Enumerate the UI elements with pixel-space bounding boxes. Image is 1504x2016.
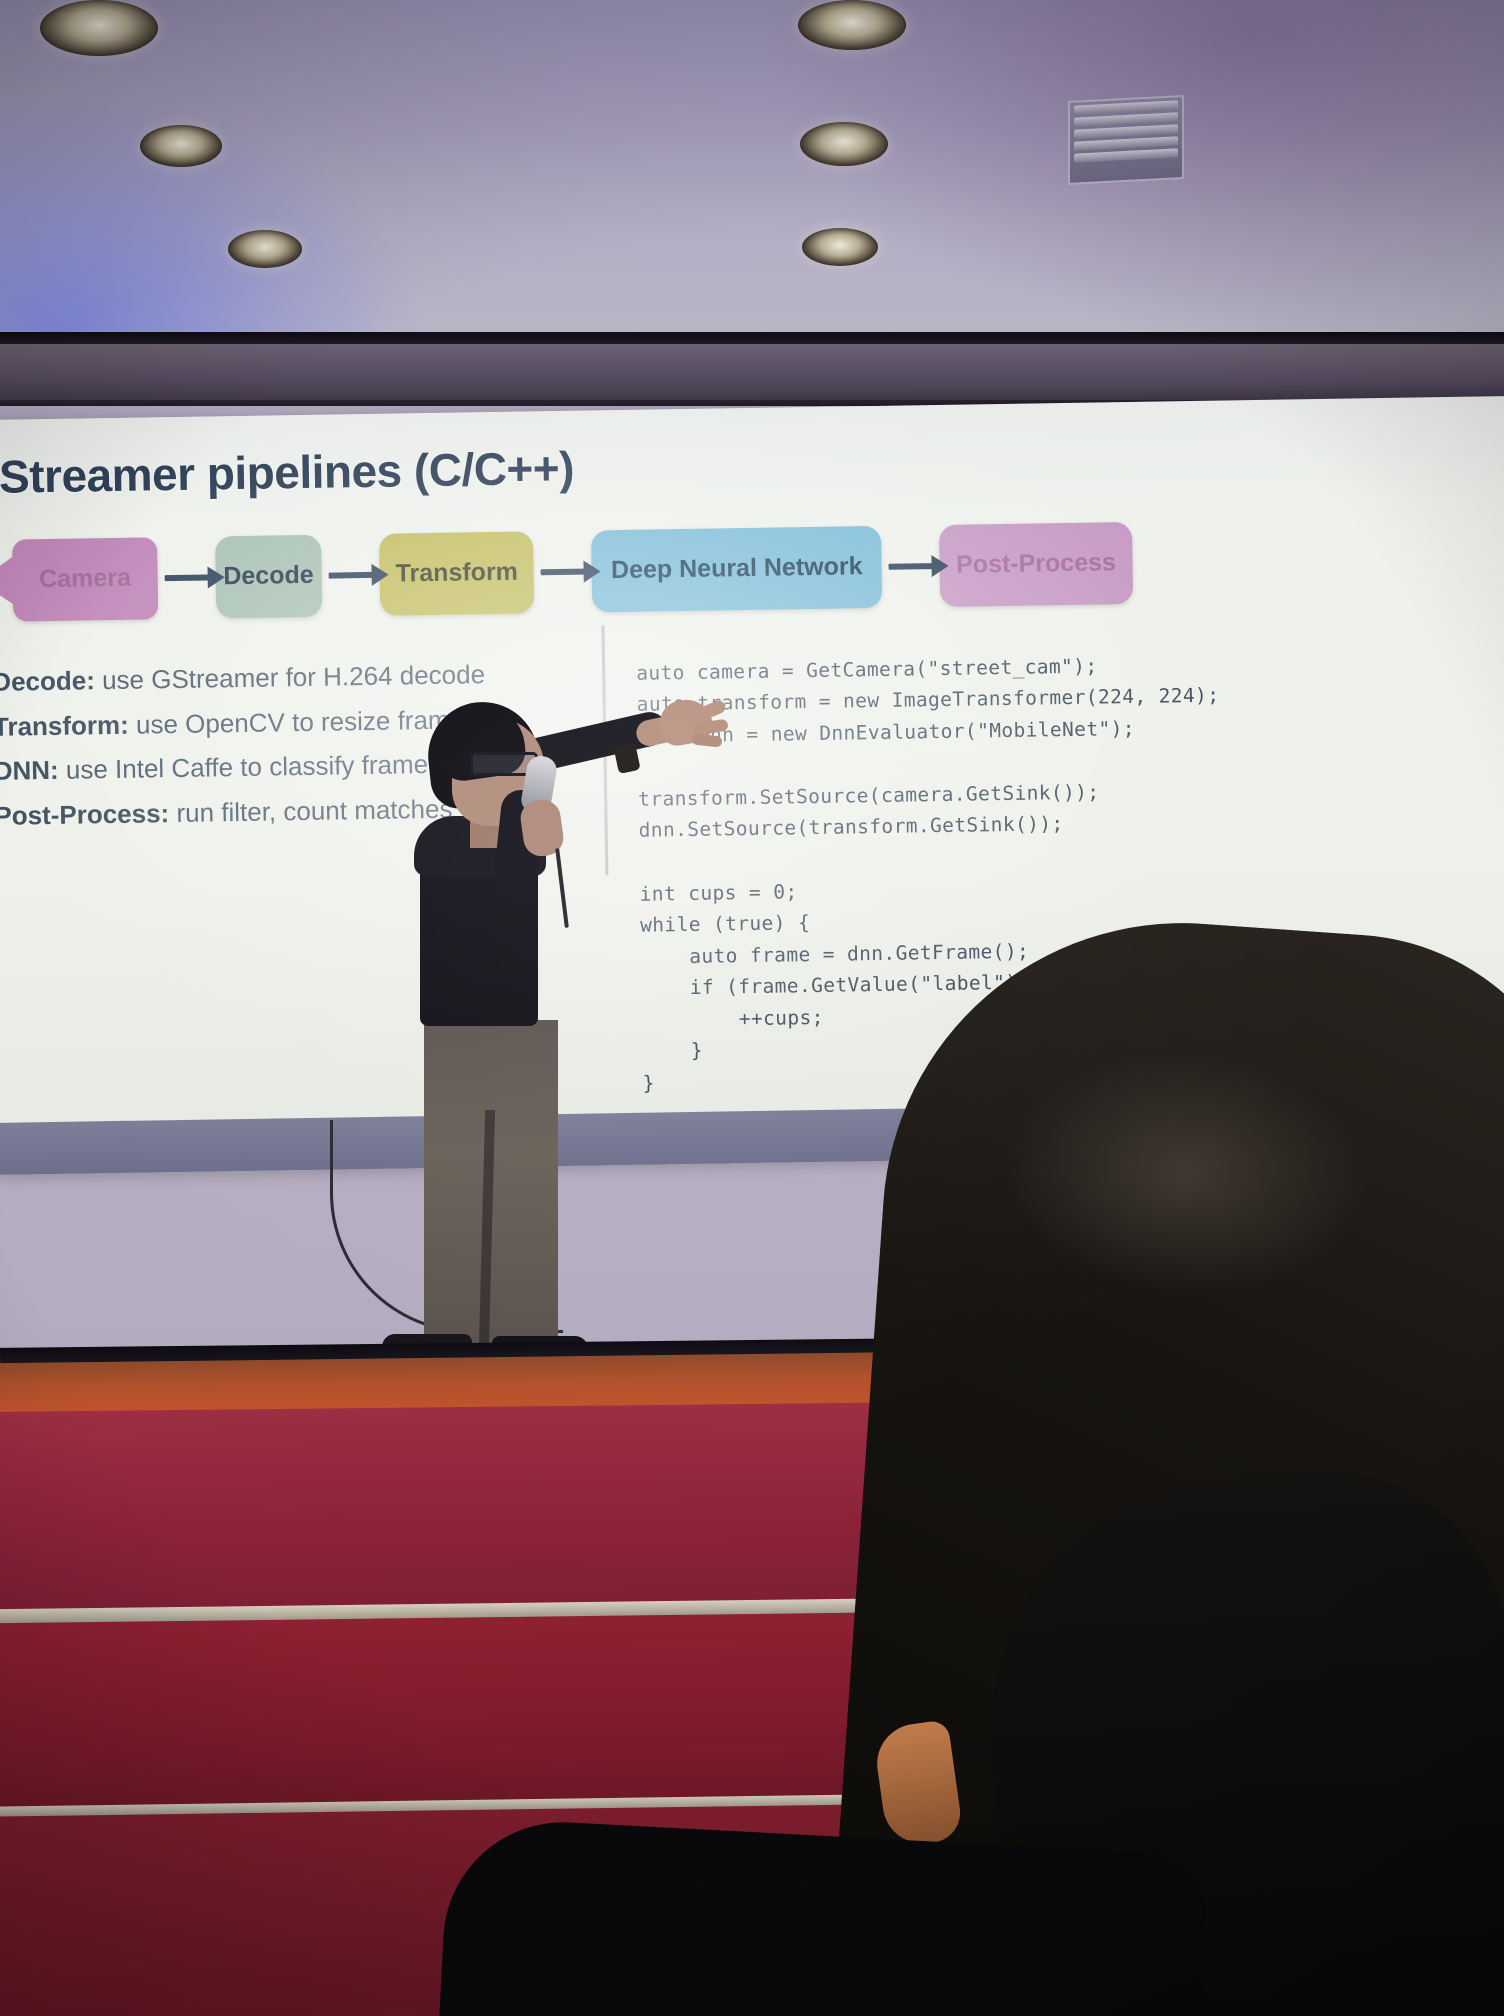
bullet-text: use Intel Caffe to classify frame [66,749,429,785]
pipeline-arrow-icon [164,574,208,581]
bullet-text: use GStreamer for H.264 decode [102,659,485,695]
pipeline-node-decode: Decode [215,534,322,618]
list-item: Post-Process: run filter, count matches [0,785,595,839]
ceiling-spotlight-icon [228,230,302,268]
photograph-scene: Streamer pipelines (C/C++) Camera Decode… [0,0,1504,2016]
pipeline-diagram: Camera Decode Transform Deep Neural Netw… [0,510,1133,633]
pipeline-arrow-icon [329,571,373,578]
pipeline-node-decode-label: Decode [223,562,314,590]
bullet-text: use OpenCV to resize frame [136,704,464,739]
pipeline-node-post-process: Post-Process [939,521,1133,606]
bullet-label: Decode: [0,665,95,697]
pipeline-node-transform-label: Transform [395,559,518,587]
ceiling-spotlight-icon [798,0,906,50]
bullet-list: Decode: use GStreamer for H.264 decode T… [0,650,595,838]
pipeline-arrow-icon [888,563,932,570]
pipeline-node-transform: Transform [379,531,535,615]
code-divider [601,625,608,875]
pipeline-node-camera: Camera [12,537,158,621]
bullet-label: DNN: [0,755,59,786]
bullet-label: Transform: [0,709,129,741]
soffit-band [0,344,1504,406]
slide-title: Streamer pipelines (C/C++) [0,441,574,504]
pipeline-node-post-process-label: Post-Process [956,550,1116,579]
pipeline-node-dnn: Deep Neural Network [591,525,882,612]
bullet-text: run filter, count matches [176,794,452,828]
ceiling-spotlight-icon [800,122,888,166]
ceiling-spotlight-icon [802,228,878,266]
ceiling [0,0,1504,340]
air-vent-icon [1068,95,1184,185]
bullet-label: Post-Process: [0,798,169,831]
ceiling-spotlight-icon [40,0,158,56]
pipeline-arrow-icon [541,568,585,575]
ceiling-spotlight-icon [140,125,222,167]
pipeline-node-camera-label: Camera [39,565,131,593]
pipeline-node-dnn-label: Deep Neural Network [611,554,863,584]
